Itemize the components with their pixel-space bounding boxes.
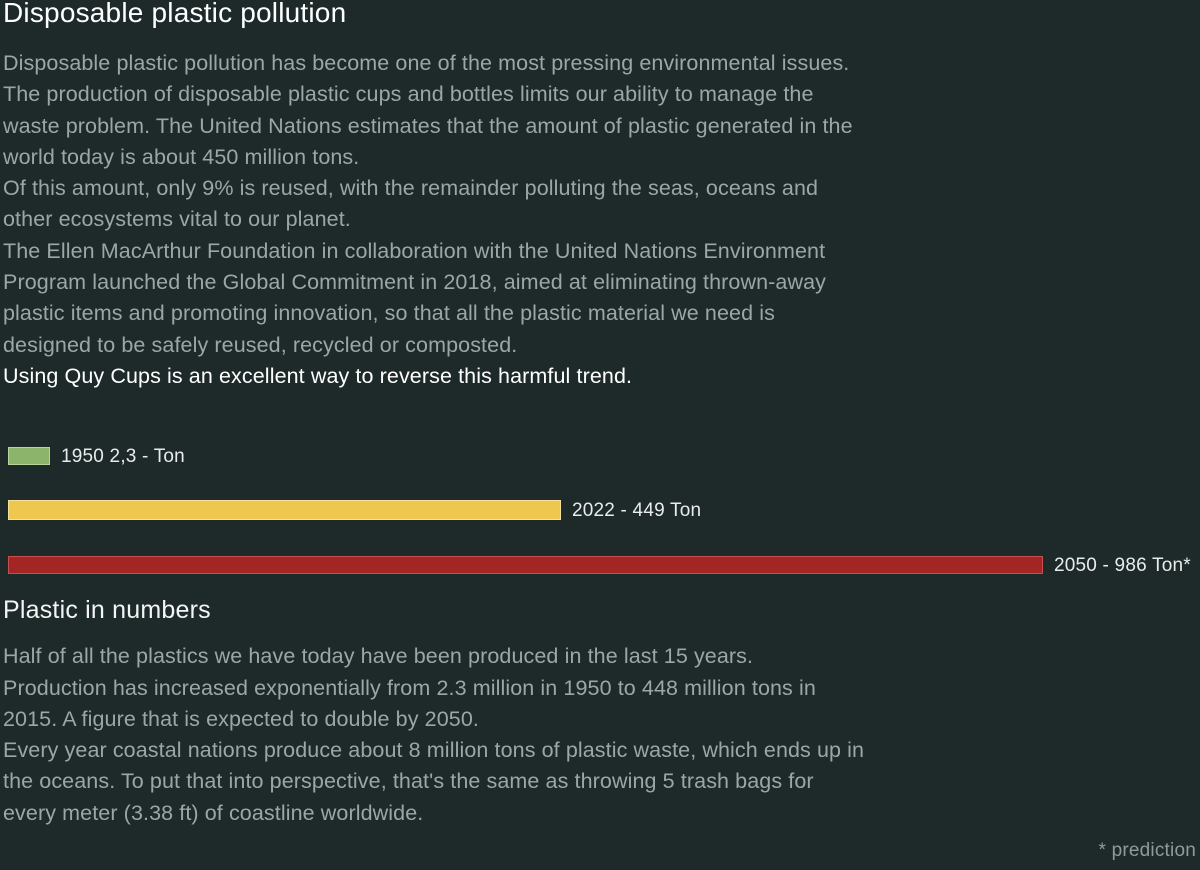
numbers-line: the oceans. To put that into perspective…	[3, 766, 1200, 797]
intro-line: world today is about 450 million tons.	[3, 142, 1200, 173]
bar-2050	[8, 556, 1043, 574]
intro-paragraph: Disposable plastic pollution has become …	[3, 48, 1200, 392]
intro-line: designed to be safely reused, recycled o…	[3, 330, 1200, 361]
intro-line: The production of disposable plastic cup…	[3, 79, 1200, 110]
chart-row-1950: 1950 2,3 - Ton	[3, 441, 185, 471]
title-spacer	[3, 28, 1200, 40]
numbers-line: every meter (3.38 ft) of coastline world…	[3, 798, 1200, 829]
numbers-line: Every year coastal nations produce about…	[3, 735, 1200, 766]
intro-line: plastic items and promoting innovation, …	[3, 298, 1200, 329]
chart-row-2022: 2022 - 449 Ton	[3, 495, 701, 525]
infographic-page: Disposable plastic pollution Disposable …	[0, 0, 1200, 868]
intro-line: Program launched the Global Commitment i…	[3, 267, 1200, 298]
numbers-line: Half of all the plastics we have today h…	[3, 641, 1200, 672]
bar-2022	[8, 500, 561, 520]
numbers-paragraph: Half of all the plastics we have today h…	[3, 641, 1200, 829]
page-title: Disposable plastic pollution	[3, 0, 1200, 28]
intro-line: other ecosystems vital to our planet.	[3, 204, 1200, 235]
numbers-line: 2015. A figure that is expected to doubl…	[3, 704, 1200, 735]
bar-label-1950: 1950 2,3 - Ton	[61, 447, 185, 466]
bar-label-2022: 2022 - 449 Ton	[572, 501, 701, 520]
intro-line: waste problem. The United Nations estima…	[3, 111, 1200, 142]
intro-line: Of this amount, only 9% is reused, with …	[3, 173, 1200, 204]
section-title-plastic-in-numbers: Plastic in numbers	[3, 595, 1200, 625]
numbers-line: Production has increased exponentially f…	[3, 673, 1200, 704]
bar-1950	[8, 447, 50, 465]
bar-label-2050: 2050 - 986 Ton*	[1054, 556, 1191, 575]
prediction-footnote: * prediction	[1099, 840, 1196, 862]
intro-line: Disposable plastic pollution has become …	[3, 48, 1200, 79]
emphasis-line: Using Quy Cups is an excellent way to re…	[3, 361, 1200, 392]
plastic-production-bar-chart: 1950 2,3 - Ton 2022 - 449 Ton 2050 - 986…	[3, 427, 1200, 587]
chart-row-2050: 2050 - 986 Ton*	[3, 550, 1191, 580]
intro-line: The Ellen MacArthur Foundation in collab…	[3, 236, 1200, 267]
